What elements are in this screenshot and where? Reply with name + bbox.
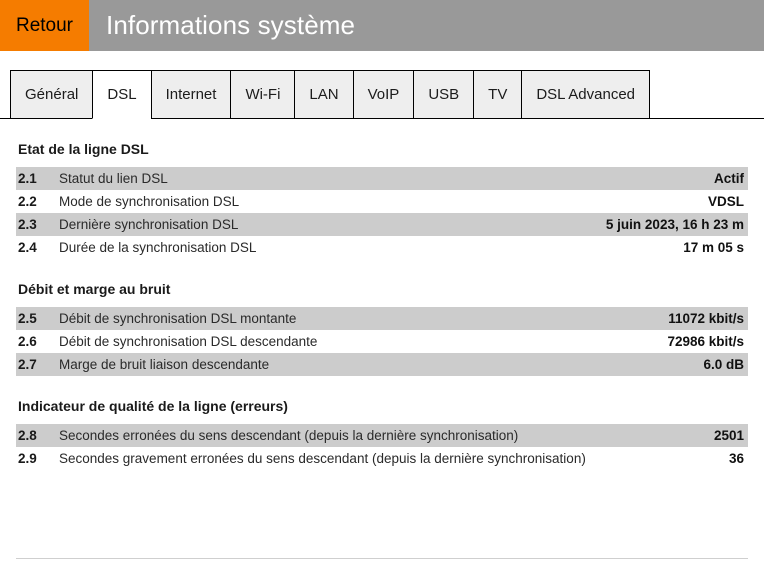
row-label: Secondes erronées du sens descendant (de… [57,424,705,447]
table-row: 2.9Secondes gravement erronées du sens d… [16,447,748,470]
app-header: Retour Informations système [0,0,764,51]
tab-label: Général [25,86,78,103]
row-label: Mode de synchronisation DSL [57,190,460,213]
section-title: Débit et marge au bruit [18,281,748,297]
row-label: Dernière synchronisation DSL [57,213,460,236]
table-row: 2.1Statut du lien DSLActif [16,167,748,190]
row-value: Actif [460,167,748,190]
info-table: 2.5Débit de synchronisation DSL montante… [16,307,748,376]
tab-tv[interactable]: TV [473,70,521,119]
table-row: 2.8Secondes erronées du sens descendant … [16,424,748,447]
tab-voip[interactable]: VoIP [353,70,414,119]
row-value: 36 [705,447,748,470]
tab-label: Wi-Fi [245,86,280,103]
tab-wi-fi[interactable]: Wi-Fi [230,70,294,119]
info-section: Débit et marge au bruit2.5Débit de synch… [16,281,748,376]
page-title: Informations système [89,0,764,51]
tab-label: LAN [309,86,338,103]
tab-label: DSL Advanced [536,86,635,103]
info-table: 2.1Statut du lien DSLActif2.2Mode de syn… [16,167,748,259]
info-section: Etat de la ligne DSL2.1Statut du lien DS… [16,141,748,259]
row-value: 6.0 dB [584,353,748,376]
tab-bar: GénéralDSLInternetWi-FiLANVoIPUSBTVDSL A… [0,51,764,119]
table-row: 2.4Durée de la synchronisation DSL17 m 0… [16,236,748,259]
table-row: 2.7Marge de bruit liaison descendante6.0… [16,353,748,376]
back-button-label: Retour [16,15,73,37]
row-id: 2.4 [16,236,57,259]
row-value: 5 juin 2023, 16 h 23 m [460,213,748,236]
tab-bar-trailing-rule [650,70,764,119]
tab-internet[interactable]: Internet [151,70,231,119]
tab-label: TV [488,86,507,103]
back-button[interactable]: Retour [0,0,89,51]
tab-label: Internet [166,86,217,103]
section-title: Etat de la ligne DSL [18,141,748,157]
tab-label: VoIP [368,86,400,103]
row-value: 72986 kbit/s [584,330,748,353]
row-value: VDSL [460,190,748,213]
row-label: Débit de synchronisation DSL descendante [57,330,584,353]
tab-lan[interactable]: LAN [294,70,352,119]
row-label: Débit de synchronisation DSL montante [57,307,584,330]
tab-label: DSL [107,86,136,103]
row-id: 2.9 [16,447,57,470]
row-value: 17 m 05 s [460,236,748,259]
dsl-info-content: Etat de la ligne DSL2.1Statut du lien DS… [0,141,764,470]
footer-divider [16,558,748,559]
tab-label: USB [428,86,459,103]
tab-dsl[interactable]: DSL [92,70,150,119]
table-row: 2.6Débit de synchronisation DSL descenda… [16,330,748,353]
row-id: 2.7 [16,353,57,376]
row-label: Secondes gravement erronées du sens desc… [57,447,705,470]
info-table: 2.8Secondes erronées du sens descendant … [16,424,748,470]
table-row: 2.5Débit de synchronisation DSL montante… [16,307,748,330]
tab-g-n-ral[interactable]: Général [10,70,92,119]
row-value: 2501 [705,424,748,447]
row-label: Marge de bruit liaison descendante [57,353,584,376]
row-value: 11072 kbit/s [584,307,748,330]
tab-strip: GénéralDSLInternetWi-FiLANVoIPUSBTVDSL A… [10,70,650,119]
info-section: Indicateur de qualité de la ligne (erreu… [16,398,748,470]
row-id: 2.2 [16,190,57,213]
tab-usb[interactable]: USB [413,70,473,119]
row-id: 2.3 [16,213,57,236]
row-label: Statut du lien DSL [57,167,460,190]
row-id: 2.5 [16,307,57,330]
table-row: 2.3Dernière synchronisation DSL5 juin 20… [16,213,748,236]
table-row: 2.2Mode de synchronisation DSLVDSL [16,190,748,213]
tab-dsl-advanced[interactable]: DSL Advanced [521,70,650,119]
section-title: Indicateur de qualité de la ligne (erreu… [18,398,748,414]
row-label: Durée de la synchronisation DSL [57,236,460,259]
row-id: 2.8 [16,424,57,447]
row-id: 2.1 [16,167,57,190]
row-id: 2.6 [16,330,57,353]
